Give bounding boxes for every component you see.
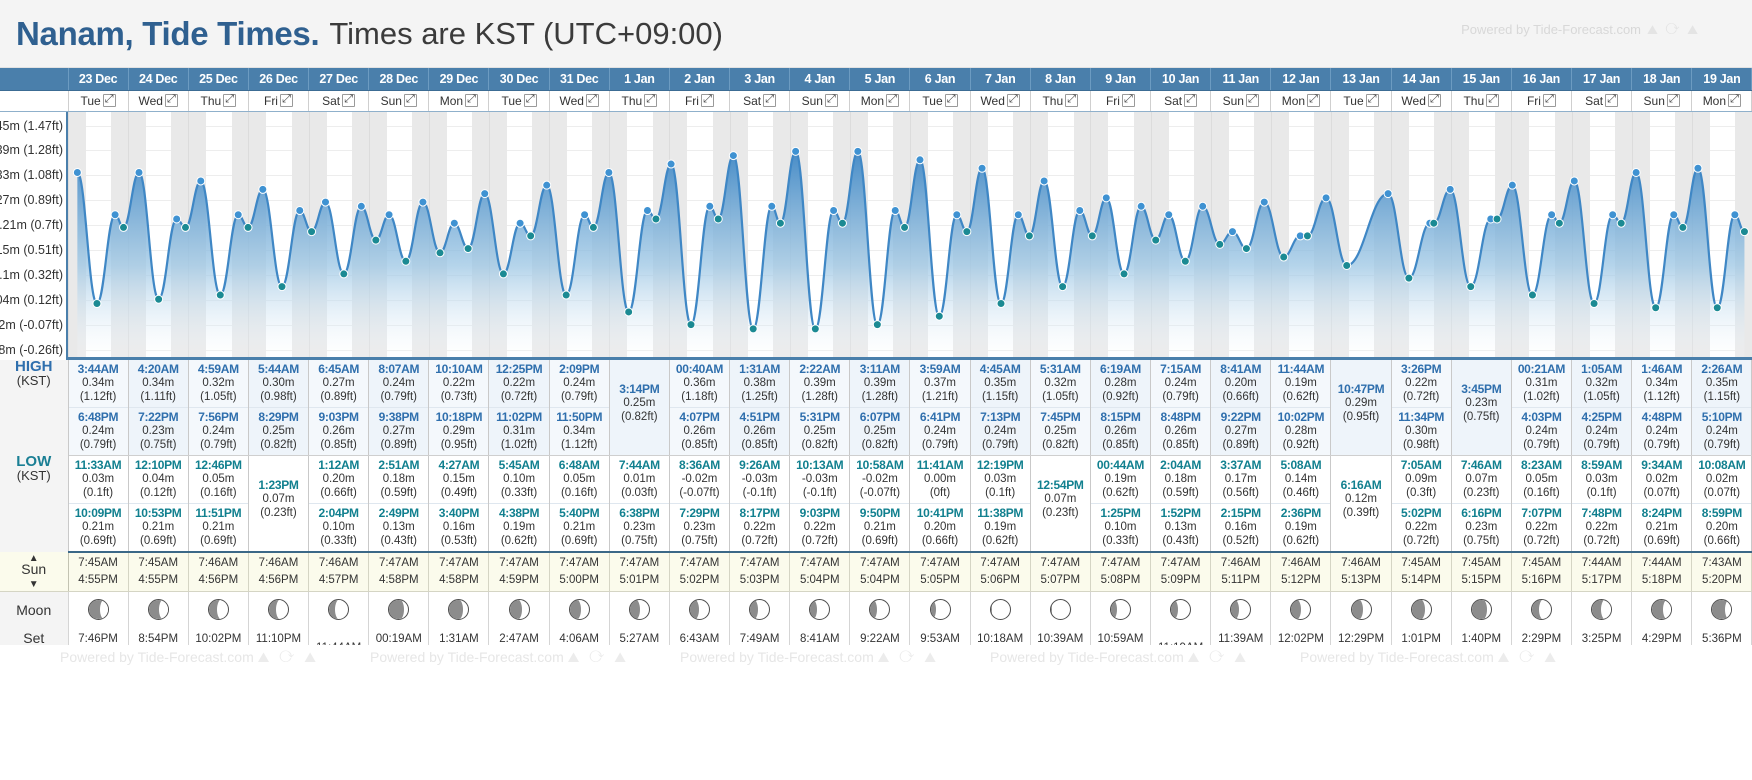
high-tide-point[interactable] [854, 147, 862, 155]
expand-icon[interactable] [886, 94, 899, 107]
expand-icon[interactable] [1667, 94, 1680, 107]
weekday-cell[interactable]: Thu [1030, 90, 1090, 111]
tide-time: 00:40AM [670, 362, 729, 376]
low-tide-cell: 00:44AM0.19m(0.62ft)1:25PM0.10m(0.33ft) [1090, 455, 1150, 552]
y-axis-tick-label: -0.02m (-0.07ft) [0, 318, 63, 332]
low-tide-entry: 9:34AM0.02m(0.07ft) [1632, 456, 1691, 503]
date-header-cell[interactable]: 14 Jan [1391, 68, 1451, 90]
date-header-cell[interactable]: 2 Jan [669, 68, 729, 90]
tide-time: 10:10AM [429, 362, 488, 376]
moon-phase-cell [1151, 592, 1211, 628]
weekday-cell[interactable]: Wed [128, 90, 188, 111]
tide-height-feet: (-0.07ft) [670, 486, 729, 500]
low-tide-point[interactable] [1740, 227, 1748, 235]
low-tide-point[interactable] [1120, 269, 1128, 277]
tide-height-meters: 0.23m [129, 424, 188, 438]
low-tide-point[interactable] [499, 269, 507, 277]
expand-icon[interactable] [701, 94, 714, 107]
high-tide-point[interactable] [111, 210, 119, 218]
high-tide-point[interactable] [1609, 210, 1617, 218]
tide-height-feet: (1.21ft) [910, 390, 969, 404]
tide-height-feet: (0.72ft) [489, 390, 548, 404]
tide-time: 4:45AM [971, 362, 1030, 376]
low-tide-point[interactable] [527, 231, 535, 239]
low-tide-point[interactable] [93, 299, 101, 307]
high-tide-point[interactable] [1384, 189, 1392, 197]
low-tide-point[interactable] [687, 320, 695, 328]
low-tide-entry: 1:23PM0.07m(0.23ft) [249, 456, 308, 523]
high-tide-entry: 9:38PM0.27m(0.89ft) [369, 407, 428, 455]
weekday-cell[interactable]: Wed [549, 90, 609, 111]
date-header-cell[interactable]: 19 Jan [1692, 68, 1752, 90]
low-tide-point[interactable] [1713, 303, 1721, 311]
weekday-label: Mon [1282, 94, 1305, 108]
date-header-cell[interactable]: 25 Dec [188, 68, 248, 90]
sunrise-time: 7:47AM [489, 555, 548, 572]
expand-icon[interactable] [1307, 94, 1320, 107]
high-tide-cell: 10:10AM0.22m(0.73ft)10:18PM0.29m(0.95ft) [429, 360, 489, 456]
tide-time: 5:44AM [249, 362, 308, 376]
weekday-cell[interactable]: Thu [188, 90, 248, 111]
low-tide-point[interactable] [1025, 231, 1033, 239]
expand-icon[interactable] [1007, 94, 1020, 107]
low-tide-point[interactable] [216, 291, 224, 299]
weekday-cell[interactable]: Tue [68, 90, 128, 111]
sun-cell: 7:47AM5:09PM [1151, 552, 1211, 592]
weekday-cell[interactable]: Tue [1331, 90, 1391, 111]
high-tide-entry: 12:25PM0.22m(0.72ft) [489, 360, 548, 407]
tide-time: 1:52PM [1151, 506, 1210, 520]
high-tide-point[interactable] [73, 168, 81, 176]
weekday-cell[interactable]: Sun [1632, 90, 1692, 111]
low-tide-point[interactable] [120, 223, 128, 231]
high-tide-entry: 4:45AM0.35m(1.15ft) [971, 360, 1030, 407]
tide-time: 5:10PM [1692, 410, 1751, 424]
date-header-cell[interactable]: 5 Jan [850, 68, 910, 90]
low-tide-point[interactable] [1280, 253, 1288, 261]
high-tide-point[interactable] [643, 206, 651, 214]
high-tide-point[interactable] [234, 210, 242, 218]
low-tide-point[interactable] [901, 223, 909, 231]
high-tide-point[interactable] [1165, 210, 1173, 218]
weekday-cell[interactable]: Mon [1271, 90, 1331, 111]
high-tide-point[interactable] [1632, 168, 1640, 176]
low-tide-point[interactable] [749, 324, 757, 332]
high-tide-point[interactable] [830, 206, 838, 214]
weekday-cell[interactable]: Fri [1090, 90, 1150, 111]
moon-label: Moon [0, 592, 68, 628]
high-tide-point[interactable] [357, 202, 365, 210]
high-tide-point[interactable] [729, 151, 737, 159]
high-tide-point[interactable] [543, 181, 551, 189]
weekday-cell[interactable]: Sat [309, 90, 369, 111]
high-tide-point[interactable] [1014, 210, 1022, 218]
tide-height-meters: 0.27m [369, 424, 428, 438]
weekday-label: Tue [922, 94, 942, 108]
low-tide-entry: 8:59PM0.20m(0.66ft) [1692, 503, 1751, 551]
low-tide-point[interactable] [1242, 244, 1250, 252]
high-tide-point[interactable] [1199, 202, 1207, 210]
high-tide-entry: 6:48PM0.24m(0.79ft) [69, 407, 128, 455]
tide-time: 5:02PM [1392, 506, 1451, 520]
weekday-cell[interactable]: Tue [489, 90, 549, 111]
high-tide-cell: 3:11AM0.39m(1.28ft)6:07PM0.25m(0.82ft) [850, 360, 910, 456]
tide-height-meters: 0.31m [489, 424, 548, 438]
high-tide-point[interactable] [581, 210, 589, 218]
high-tide-point[interactable] [296, 206, 304, 214]
date-header-cell[interactable]: 18 Jan [1632, 68, 1692, 90]
sunrise-time: 7:47AM [670, 555, 729, 572]
low-tide-point[interactable] [1216, 240, 1224, 248]
low-tide-point[interactable] [402, 257, 410, 265]
expand-icon[interactable] [1728, 94, 1741, 107]
tide-height-meters: 0.24m [1151, 376, 1210, 390]
high-tide-cell: 4:59AM0.32m(1.05ft)7:56PM0.24m(0.79ft) [188, 360, 248, 456]
date-header-cell[interactable]: 26 Dec [248, 68, 308, 90]
weekday-cell[interactable]: Thu [609, 90, 669, 111]
weekday-cell[interactable]: Sun [369, 90, 429, 111]
tide-height-feet: (0.12ft) [129, 486, 188, 500]
tide-height-meters: 0.05m [189, 472, 248, 486]
expand-icon[interactable] [404, 94, 417, 107]
high-tide-point[interactable] [450, 219, 458, 227]
high-tide-point[interactable] [1670, 210, 1678, 218]
low-tide-point[interactable] [589, 223, 597, 231]
moon-phase-icon [268, 599, 289, 620]
low-tide-entry: 9:50PM0.21m(0.69ft) [850, 503, 909, 551]
date-header-cell[interactable]: 11 Jan [1211, 68, 1271, 90]
date-header-cell[interactable]: 13 Jan [1331, 68, 1391, 90]
tide-time: 8:36AM [670, 458, 729, 472]
low-tide-point[interactable] [935, 312, 943, 320]
tide-height-feet: (0.72ft) [1572, 534, 1631, 548]
high-tide-point[interactable] [768, 202, 776, 210]
weekday-cell[interactable]: Mon [429, 90, 489, 111]
moon-terminator [571, 599, 581, 620]
moon-phase-cell [1331, 592, 1391, 628]
tide-height-feet: (0.79ft) [189, 438, 248, 452]
moon-phase-icon [88, 599, 109, 620]
weekday-label: Sun [802, 94, 823, 108]
expand-icon[interactable] [342, 94, 355, 107]
high-tide-entry: 7:45PM0.25m(0.82ft) [1031, 407, 1090, 455]
high-tide-entry: 4:20AM0.34m(1.11ft) [129, 360, 188, 407]
expand-icon[interactable] [465, 94, 478, 107]
weekday-cell[interactable]: Sat [1151, 90, 1211, 111]
low-tide-point[interactable] [562, 291, 570, 299]
date-header-cell[interactable]: 16 Jan [1511, 68, 1571, 90]
tide-height-meters: 0.05m [1512, 472, 1571, 486]
date-header-cell[interactable]: 10 Jan [1151, 68, 1211, 90]
high-tide-entry: 8:48PM0.26m(0.85ft) [1151, 407, 1210, 455]
low-tide-point[interactable] [436, 248, 444, 256]
low-tide-point[interactable] [181, 223, 189, 231]
low-tide-point[interactable] [1493, 214, 1501, 222]
high-tide-point[interactable] [605, 168, 613, 176]
high-tide-point[interactable] [197, 176, 205, 184]
sun-cell: 7:46AM5:12PM [1271, 552, 1331, 592]
tide-time: 8:48PM [1151, 410, 1210, 424]
date-header-cell[interactable]: 7 Jan [970, 68, 1030, 90]
low-tide-point[interactable] [1088, 231, 1096, 239]
high-tide-point[interactable] [1570, 176, 1578, 184]
tide-time: 9:50PM [850, 506, 909, 520]
tide-height-meters: 0.26m [1091, 424, 1150, 438]
expand-icon[interactable] [1366, 94, 1379, 107]
expand-icon[interactable] [524, 94, 537, 107]
tide-height-meters: 0.19m [971, 520, 1030, 534]
tide-height-feet: (0.89ft) [1211, 438, 1270, 452]
tide-time: 10:58AM [850, 458, 909, 472]
tide-time: 9:22PM [1211, 410, 1270, 424]
tide-time: 3:37AM [1211, 458, 1270, 472]
high-tide-point[interactable] [792, 147, 800, 155]
weekday-cell[interactable]: Wed [970, 90, 1030, 111]
high-tide-point[interactable] [1731, 210, 1739, 218]
high-tide-point[interactable] [978, 164, 986, 172]
weekday-cell[interactable]: Mon [1692, 90, 1752, 111]
high-tide-entry: 7:13PM0.24m(0.79ft) [971, 407, 1030, 455]
weekday-cell[interactable]: Fri [669, 90, 729, 111]
weekday-cell[interactable]: Sat [1572, 90, 1632, 111]
low-tide-point[interactable] [1303, 231, 1311, 239]
low-tide-point[interactable] [838, 219, 846, 227]
low-tide-point[interactable] [1430, 219, 1438, 227]
high-tide-point[interactable] [1228, 227, 1236, 235]
tide-height-meters: 0.12m [1331, 492, 1390, 506]
date-header-cell[interactable]: 28 Dec [369, 68, 429, 90]
low-tide-point[interactable] [1467, 282, 1475, 290]
low-tide-point[interactable] [1555, 219, 1563, 227]
expand-icon[interactable] [1543, 94, 1556, 107]
high-tide-point[interactable] [1694, 164, 1702, 172]
tide-height-feet: (-0.1ft) [790, 486, 849, 500]
expand-icon[interactable] [945, 94, 958, 107]
date-header-cell[interactable]: 17 Jan [1572, 68, 1632, 90]
weekday-cell[interactable]: Thu [1451, 90, 1511, 111]
expand-icon[interactable] [1486, 94, 1499, 107]
tide-height-meters: 0.37m [910, 376, 969, 390]
tide-height-meters: 0.13m [369, 520, 428, 534]
sun-word: Sun [21, 561, 46, 577]
low-tide-point[interactable] [244, 223, 252, 231]
tide-time: 8:59PM [1692, 506, 1751, 520]
sunrise-time: 7:44AM [1572, 555, 1631, 572]
expand-icon[interactable] [1184, 94, 1197, 107]
tide-time: 2:04AM [1151, 458, 1210, 472]
date-header-cell[interactable]: 6 Jan [910, 68, 970, 90]
sunrise-time: 7:46AM [249, 555, 308, 572]
expand-icon[interactable] [1246, 94, 1259, 107]
low-tide-point[interactable] [1528, 291, 1536, 299]
high-tide-entry: 7:56PM0.24m(0.79ft) [189, 407, 248, 455]
sunrise-time: 7:46AM [1331, 555, 1390, 572]
high-tide-point[interactable] [1040, 176, 1048, 184]
low-tide-point[interactable] [714, 214, 722, 222]
date-header-cell[interactable]: 8 Jan [1030, 68, 1090, 90]
high-tide-point[interactable] [1076, 206, 1084, 214]
low-tide-point[interactable] [1181, 257, 1189, 265]
weekday-cell[interactable]: Tue [910, 90, 970, 111]
date-header-cell[interactable]: 29 Dec [429, 68, 489, 90]
date-header-cell[interactable]: 1 Jan [609, 68, 669, 90]
chart-plot-area[interactable] [68, 112, 1752, 360]
date-header-cell[interactable]: 23 Dec [68, 68, 128, 90]
expand-icon[interactable] [644, 94, 657, 107]
low-tide-point[interactable] [652, 214, 660, 222]
high-tide-point[interactable] [1260, 198, 1268, 206]
low-tide-point[interactable] [1152, 236, 1160, 244]
low-tide-entry: 7:05AM0.09m(0.3ft) [1392, 456, 1451, 503]
high-tide-point[interactable] [1446, 185, 1454, 193]
tide-time: 6:45AM [309, 362, 368, 376]
weekday-cell[interactable]: Sun [1211, 90, 1271, 111]
chart-y-axis: 0.45m (1.47ft)0.39m (1.28ft)0.33m (1.08f… [0, 112, 68, 360]
low-tide-point[interactable] [997, 299, 1005, 307]
high-tide-point[interactable] [1102, 193, 1110, 201]
high-tide-point[interactable] [916, 155, 924, 163]
low-tide-point[interactable] [372, 236, 380, 244]
moon-phase-icon [1351, 599, 1372, 620]
y-axis-tick-label: 0.33m (1.08ft) [0, 168, 63, 182]
weekday-cell[interactable]: Sun [790, 90, 850, 111]
high-tide-point[interactable] [135, 168, 143, 176]
tide-height-meters: 0.09m [1392, 472, 1451, 486]
low-tide-point[interactable] [1405, 274, 1413, 282]
low-tide-entry: 12:54PM0.07m(0.23ft) [1031, 456, 1090, 523]
watermark-glyphs-icon: ⛰ ⟳ ⛰ [568, 649, 629, 665]
high-tide-point[interactable] [419, 198, 427, 206]
tide-height-meters: 0.20m [309, 472, 368, 486]
high-tide-entry: 6:41PM0.24m(0.79ft) [910, 407, 969, 455]
low-tide-point[interactable] [625, 307, 633, 315]
tide-time: 4:51PM [730, 410, 789, 424]
tide-time: 12:25PM [489, 362, 548, 376]
high-tide-point[interactable] [259, 185, 267, 193]
high-tide-point[interactable] [173, 214, 181, 222]
expand-icon[interactable] [103, 94, 116, 107]
high-tide-entry: 3:44AM0.34m(1.12ft) [69, 360, 128, 407]
low-tide-point[interactable] [1590, 299, 1598, 307]
low-tide-point[interactable] [1343, 261, 1351, 269]
high-tide-point[interactable] [891, 206, 899, 214]
tide-height-feet: (1.05ft) [1572, 390, 1631, 404]
tide-height-feet: (0.79ft) [910, 438, 969, 452]
high-tide-cell: 00:40AM0.36m(1.18ft)4:07PM0.26m(0.85ft) [669, 360, 729, 456]
date-header-cell[interactable]: 30 Dec [489, 68, 549, 90]
moon-phase-icon [388, 599, 409, 620]
weekday-cell[interactable]: Mon [850, 90, 910, 111]
moon-phase-icon [990, 599, 1011, 620]
low-tide-point[interactable] [1679, 223, 1687, 231]
tide-height-feet: (0.23ft) [1452, 486, 1511, 500]
high-tide-point[interactable] [516, 219, 524, 227]
low-tide-point[interactable] [873, 320, 881, 328]
tide-chart[interactable]: 0.45m (1.47ft)0.39m (1.28ft)0.33m (1.08f… [0, 111, 68, 360]
moon-phase-cell [429, 592, 489, 628]
low-tide-cell: 2:51AM0.18m(0.59ft)2:49PM0.13m(0.43ft) [369, 455, 429, 552]
low-tide-point[interactable] [155, 295, 163, 303]
expand-icon[interactable] [1605, 94, 1618, 107]
date-header-cell[interactable]: 3 Jan [730, 68, 790, 90]
expand-icon[interactable] [165, 94, 178, 107]
tide-time: 8:41AM [1211, 362, 1270, 376]
weekday-cell[interactable]: Wed [1391, 90, 1451, 111]
weekday-cell[interactable]: Fri [248, 90, 308, 111]
high-tide-point[interactable] [1508, 181, 1516, 189]
sunset-time: 5:14PM [1392, 572, 1451, 589]
low-tide-point[interactable] [1652, 303, 1660, 311]
tide-time: 5:31PM [790, 410, 849, 424]
sun-cell: 7:47AM4:58PM [429, 552, 489, 592]
expand-icon[interactable] [763, 94, 776, 107]
tide-time: 7:29PM [670, 506, 729, 520]
high-tide-cell: 10:47PM0.29m(0.95ft) [1331, 360, 1391, 456]
expand-icon[interactable] [586, 94, 599, 107]
moon-phase-icon [1050, 599, 1071, 620]
date-header-cell[interactable]: 31 Dec [549, 68, 609, 90]
low-tide-point[interactable] [278, 282, 286, 290]
high-tide-point[interactable] [1137, 202, 1145, 210]
date-header-cell[interactable]: 4 Jan [790, 68, 850, 90]
sunset-time: 5:12PM [1271, 572, 1330, 589]
expand-icon[interactable] [1122, 94, 1135, 107]
expand-icon[interactable] [1065, 94, 1078, 107]
high-tide-entry: 10:18PM0.29m(0.95ft) [429, 407, 488, 455]
expand-icon[interactable] [223, 94, 236, 107]
high-tide-point[interactable] [706, 202, 714, 210]
weekday-cell[interactable]: Fri [1511, 90, 1571, 111]
high-tide-point[interactable] [321, 198, 329, 206]
high-tide-cell: 8:07AM0.24m(0.79ft)9:38PM0.27m(0.89ft) [369, 360, 429, 456]
date-header-cell[interactable]: 24 Dec [128, 68, 188, 90]
low-tide-point[interactable] [464, 244, 472, 252]
low-tide-point[interactable] [340, 269, 348, 277]
expand-icon[interactable] [825, 94, 838, 107]
low-tide-point[interactable] [776, 219, 784, 227]
date-header-cell[interactable]: 12 Jan [1271, 68, 1331, 90]
low-tide-point[interactable] [811, 324, 819, 332]
expand-icon[interactable] [1428, 94, 1441, 107]
date-header-cell[interactable]: 15 Jan [1451, 68, 1511, 90]
tide-height-meters: 0.24m [1692, 424, 1751, 438]
weekday-cell[interactable]: Sat [730, 90, 790, 111]
high-tide-point[interactable] [953, 210, 961, 218]
moon-terminator [217, 599, 227, 620]
date-header-cell[interactable]: 9 Jan [1090, 68, 1150, 90]
date-header-cell[interactable]: 27 Dec [309, 68, 369, 90]
tide-height-meters: 0.02m [1692, 472, 1751, 486]
high-tide-point[interactable] [667, 160, 675, 168]
tide-height-feet: (0.75ft) [1452, 410, 1511, 424]
tide-height-feet: (0.69ft) [550, 534, 609, 548]
high-tide-point[interactable] [1548, 210, 1556, 218]
low-tide-point[interactable] [1059, 282, 1067, 290]
powered-by-text: Powered by Tide-Forecast.com [1461, 22, 1641, 37]
moon-phase-icon [809, 599, 830, 620]
low-tide-point[interactable] [963, 227, 971, 235]
sunset-time: 5:04PM [790, 572, 849, 589]
tide-time: 1:12AM [309, 458, 368, 472]
low-tide-point[interactable] [308, 227, 316, 235]
tide-height-meters: 0.07m [249, 492, 308, 506]
high-tide-point[interactable] [481, 189, 489, 197]
low-tide-point[interactable] [1617, 219, 1625, 227]
high-tide-point[interactable] [1322, 193, 1330, 201]
expand-icon[interactable] [280, 94, 293, 107]
tide-height-meters: 0.25m [610, 396, 669, 410]
high-tide-point[interactable] [385, 210, 393, 218]
